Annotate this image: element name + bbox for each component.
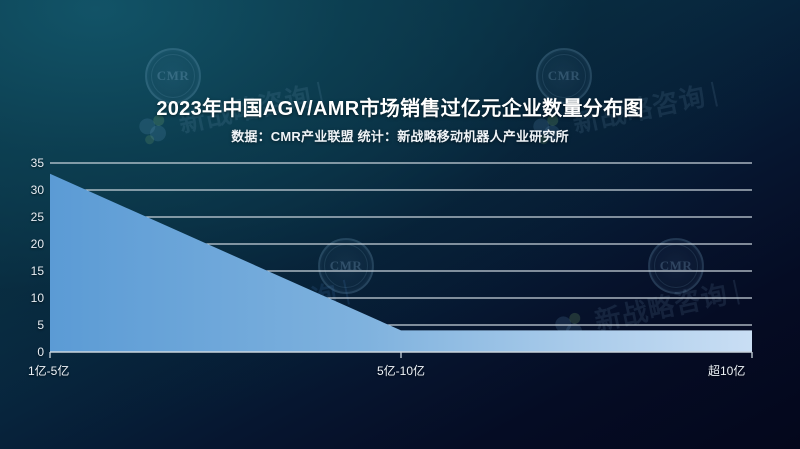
chart-canvas: CMR CMR CMR CMR 新战略咨询 新战略咨询 新战略咨询 新战略咨询 …	[0, 0, 800, 449]
y-axis-tick-label: 10	[12, 291, 44, 305]
y-axis-tick-label: 30	[12, 183, 44, 197]
y-axis-tick-label: 15	[12, 264, 44, 278]
y-axis-tick-label: 20	[12, 237, 44, 251]
x-axis-ticks	[50, 352, 752, 358]
x-axis-tick-label: 5亿-10亿	[377, 362, 425, 379]
y-axis-tick-label: 35	[12, 156, 44, 170]
x-axis-tick-label: 超10亿	[708, 362, 745, 379]
y-axis-tick-label: 5	[12, 318, 44, 332]
y-axis-tick-label: 0	[12, 345, 44, 359]
x-axis-labels: 1亿-5亿5亿-10亿超10亿	[0, 362, 800, 382]
x-axis-tick-label: 1亿-5亿	[28, 362, 69, 379]
y-axis-tick-label: 25	[12, 210, 44, 224]
